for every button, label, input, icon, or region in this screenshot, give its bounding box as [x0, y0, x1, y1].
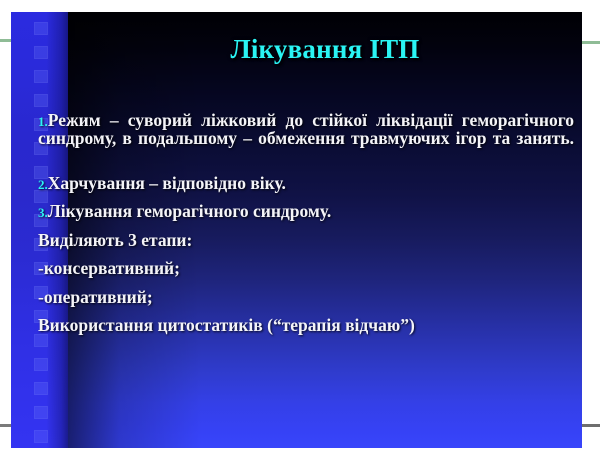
- list-item-text: Використання цитостатиків (“терапія відч…: [38, 315, 415, 335]
- slide-title: Лікування ІТП: [68, 34, 582, 65]
- list-item-marker: 2.: [38, 177, 48, 192]
- presentation-slide: Лікування ІТП 1.Режим – суворий ліжковий…: [11, 12, 582, 448]
- slide-page: Лікування ІТП 1.Режим – суворий ліжковий…: [0, 0, 600, 459]
- list-item-text: -оперативний;: [38, 287, 153, 307]
- list-item-text: Харчування – відповідно віку.: [48, 173, 286, 193]
- list-item: Виділяють 3 етапи:: [38, 232, 574, 250]
- list-item-text: -консервативний;: [38, 258, 180, 278]
- list-item: 1.Режим – суворий ліжковий до стійкої лі…: [38, 112, 574, 165]
- list-item: -оперативний;: [38, 289, 574, 307]
- list-item-text: Лікування геморагічного синдрому.: [48, 201, 331, 221]
- list-item: Використання цитостатиків (“терапія відч…: [38, 317, 574, 335]
- list-item: 2.Харчування – відповідно віку.: [38, 175, 574, 193]
- list-item: 3.Лікування геморагічного синдрому.: [38, 203, 574, 221]
- list-item-text: Режим – суворий ліжковий до стійкої лікв…: [38, 110, 574, 148]
- list-item-text: Виділяють 3 етапи:: [38, 230, 192, 250]
- list-item-marker: 3.: [38, 205, 48, 220]
- list-item: -консервативний;: [38, 260, 574, 278]
- slide-body-content: 1.Режим – суворий ліжковий до стійкої лі…: [38, 112, 574, 346]
